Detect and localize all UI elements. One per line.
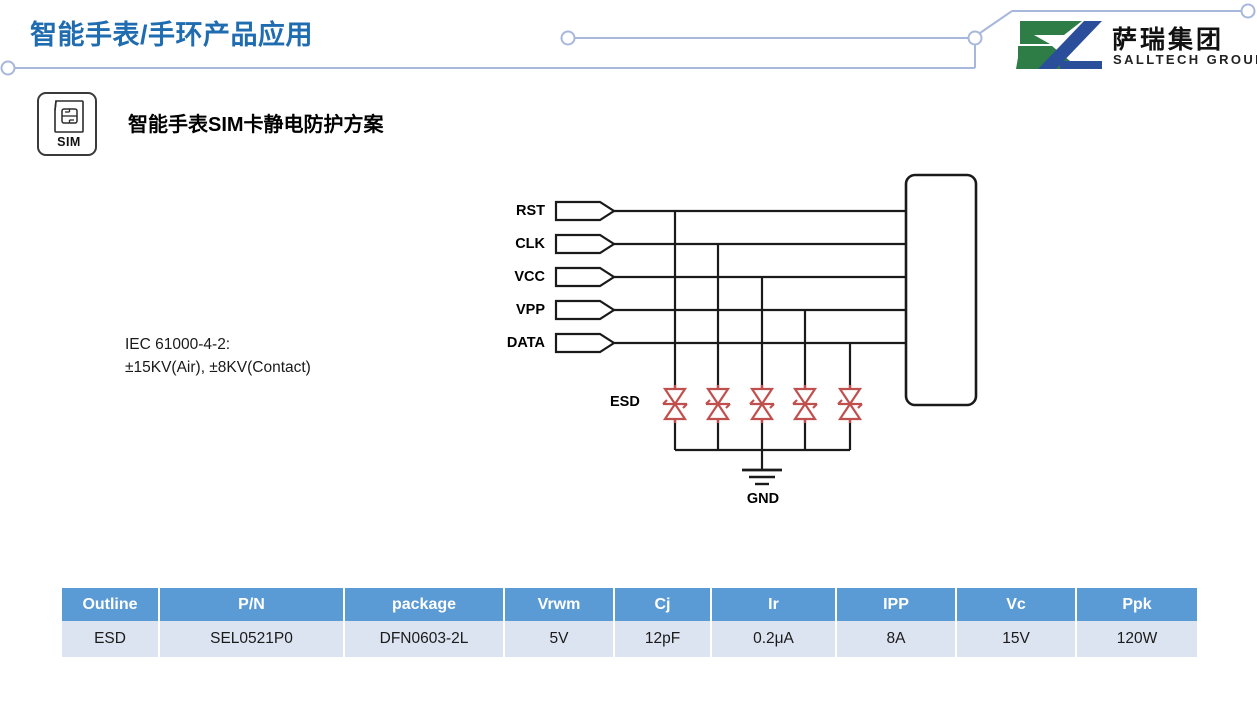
table-header-vrwm: Vrwm	[504, 588, 614, 621]
table-header-package: package	[344, 588, 504, 621]
table-header-row: Outline P/N package Vrwm Cj Ir IPP Vc Pp…	[62, 588, 1197, 621]
cell-pn: SEL0521P0	[159, 621, 344, 657]
cell-cj: 12pF	[614, 621, 711, 657]
table-header-pn: P/N	[159, 588, 344, 621]
table-header-cj: Cj	[614, 588, 711, 621]
table-header-vc: Vc	[956, 588, 1076, 621]
cell-ipp: 8A	[836, 621, 956, 657]
spec-table: Outline P/N package Vrwm Cj Ir IPP Vc Pp…	[62, 588, 1197, 657]
cell-outline: ESD	[62, 621, 159, 657]
cell-package: DFN0603-2L	[344, 621, 504, 657]
table-header-outline: Outline	[62, 588, 159, 621]
table-header-ir: Ir	[711, 588, 836, 621]
circuit-schematic	[0, 0, 1257, 560]
cell-vc: 15V	[956, 621, 1076, 657]
table-row: ESD SEL0521P0 DFN0603-2L 5V 12pF 0.2μA 8…	[62, 621, 1197, 657]
cell-ir: 0.2μA	[711, 621, 836, 657]
cell-vrwm: 5V	[504, 621, 614, 657]
cell-ppk: 120W	[1076, 621, 1197, 657]
table-header-ppk: Ppk	[1076, 588, 1197, 621]
table-header-ipp: IPP	[836, 588, 956, 621]
